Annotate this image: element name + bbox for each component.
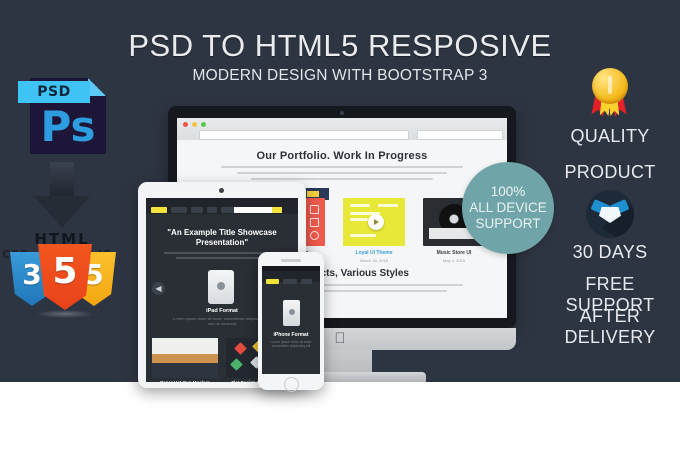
nav-item-shop[interactable] xyxy=(301,279,312,284)
carousel-prev-icon[interactable]: ◀ xyxy=(152,282,165,295)
ipad-camera xyxy=(219,188,224,193)
iphone-caption: iPhone Format xyxy=(262,332,320,338)
nav-item-portfolio[interactable] xyxy=(283,279,297,284)
ipad-headline: "An Example Title Showcase Presentation" xyxy=(150,228,294,248)
all-device-support-badge: 100% ALL DEVICE SUPPORT xyxy=(462,162,554,254)
arrow-stem xyxy=(50,162,74,198)
text-line xyxy=(221,166,463,168)
feature-bar: 100% RESPOSIVE SUPPORT ALL BROWSER EXPER… xyxy=(0,382,680,458)
iphone-speaker xyxy=(281,259,301,262)
portfolio-card-name: Music Store UI xyxy=(415,250,493,256)
ipad-search-button[interactable] xyxy=(272,207,282,213)
iphone-screen: iPhone Format Lorem ipsum dolor sit amet… xyxy=(262,266,320,374)
photoshop-file-icon: PSD Ps xyxy=(18,70,106,154)
badge-line-3: SUPPORT xyxy=(475,216,540,232)
portfolio-heading: Our Portfolio. Work In Progress xyxy=(177,150,507,162)
shield-glow xyxy=(36,310,94,318)
left-feature-column: PSD Ps HTML CSS JS 3 5 5 xyxy=(0,62,140,362)
support-line-3: AFTER DELIVERY xyxy=(540,306,680,348)
nav-item-shop[interactable] xyxy=(191,207,203,213)
psd-ps-glyph: Ps xyxy=(30,100,106,154)
imac-camera xyxy=(340,111,344,115)
text-line xyxy=(176,257,268,259)
gold-medal-icon xyxy=(584,66,636,122)
page-title: PSD TO HTML5 RESPOSIVE xyxy=(0,28,680,64)
quality-line-1: QUALITY xyxy=(540,126,680,147)
badge-line-2: ALL DEVICE xyxy=(469,200,547,216)
support-line-1: 30 DAYS xyxy=(540,242,680,263)
medal-coin xyxy=(592,68,628,104)
ipad-caption: iPad Format xyxy=(172,308,272,314)
ipad-nav-bar xyxy=(146,198,298,214)
html5-shield-icon: 5 xyxy=(38,244,92,310)
iphone-nav-bar xyxy=(262,271,320,282)
ipad-search-input[interactable] xyxy=(234,207,282,213)
card-title: Paper Hot Cup Mockup xyxy=(152,380,218,382)
play-icon[interactable] xyxy=(368,214,384,230)
portfolio-card-date: May 4, 2015 xyxy=(415,258,493,263)
nav-item-home[interactable] xyxy=(151,207,167,213)
portfolio-card-thumb xyxy=(343,198,405,246)
card-thumb xyxy=(152,338,218,378)
badge-line-1: 100% xyxy=(491,184,526,200)
browser-search-bar[interactable] xyxy=(417,130,503,140)
browser-chrome xyxy=(177,118,507,141)
iphone-caption-sub: Lorem ipsum dolor sit amet consectetur a… xyxy=(268,340,314,349)
text-line xyxy=(251,178,433,180)
iphone-home-button[interactable] xyxy=(284,377,299,392)
browser-address-bar[interactable] xyxy=(199,130,409,140)
quality-line-2: PRODUCT xyxy=(540,162,680,183)
nav-item-contact[interactable] xyxy=(221,207,235,213)
nav-item-home[interactable] xyxy=(266,279,279,284)
browser-minimize-dot[interactable] xyxy=(192,122,197,127)
arrow-down-icon xyxy=(34,162,90,228)
browser-zoom-dot[interactable] xyxy=(201,122,206,127)
right-feature-column: QUALITY PRODUCT 30 DAYS FREE SUPPORT AFT… xyxy=(540,62,680,362)
nav-item-portfolio[interactable] xyxy=(171,207,187,213)
promo-banner: PSD TO HTML5 RESPOSIVE MODERN DESIGN WIT… xyxy=(0,0,680,458)
psd-corner-fold xyxy=(88,78,106,96)
portfolio-card-name: Loyal UI Theme xyxy=(335,250,413,256)
apple-logo-icon:  xyxy=(332,331,348,347)
iphone-device-illustration xyxy=(283,300,300,326)
iphone-mockup: iPhone Format Lorem ipsum dolor sit amet… xyxy=(258,252,324,390)
list-item[interactable]: Paper Hot Cup Mockup Lorem ipsum dolor s… xyxy=(152,338,218,378)
arrow-head xyxy=(34,196,90,228)
text-line xyxy=(237,172,447,174)
browser-close-dot[interactable] xyxy=(183,122,188,127)
handshake-icon xyxy=(586,190,634,238)
html5-shield-digit: 5 xyxy=(38,251,92,292)
portfolio-card[interactable]: Loyal UI Theme March 18, 2015 xyxy=(343,198,405,246)
nav-item-blog[interactable] xyxy=(207,207,217,213)
portfolio-card-date: March 18, 2015 xyxy=(335,258,413,263)
hero-accent-yellow xyxy=(307,191,319,197)
ipad-caption-sub: Lorem ipsum dolor sit amet, consectetur … xyxy=(172,316,272,326)
ipad-device-illustration xyxy=(208,270,234,304)
